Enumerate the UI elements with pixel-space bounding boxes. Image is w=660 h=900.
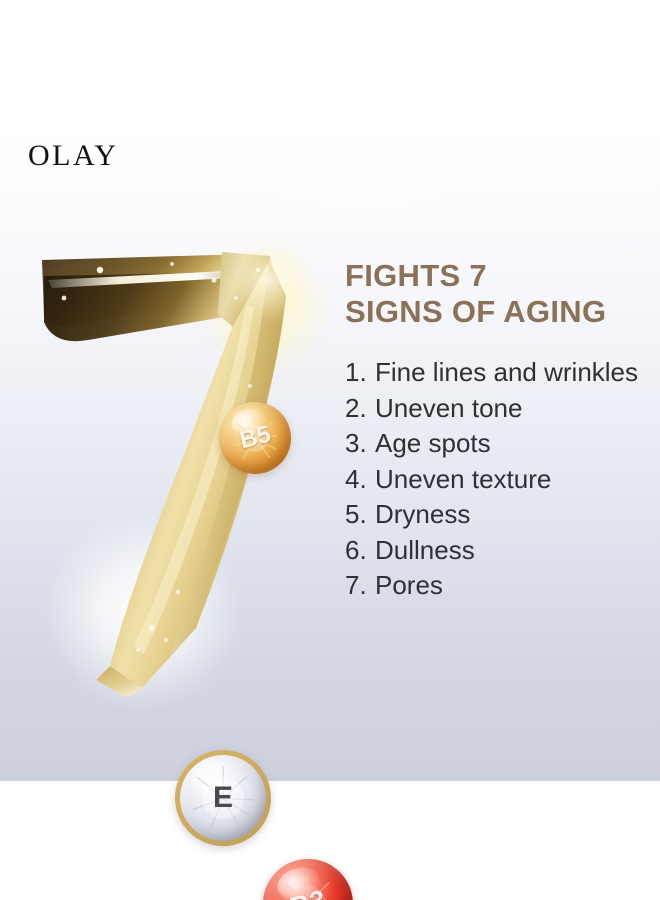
list-item-number: 7. [345,568,375,603]
vitamin-b3-sphere: B3 [263,859,353,900]
list-item: 3.Age spots [345,426,640,461]
list-item-number: 6. [345,533,375,568]
list-item-label: Age spots [375,426,640,461]
page-title: FIGHTS 7 SIGNS OF AGING [345,258,645,330]
e-label: E [213,781,233,815]
list-item: 5.Dryness [345,497,640,532]
list-item-label: Pores [375,568,640,603]
vitamin-e-sphere: E [175,750,271,846]
list-item-number: 3. [345,426,375,461]
list-item: 1.Fine lines and wrinkles [345,355,640,390]
olay-brand-logo: OLAY [28,141,119,171]
list-item-label: Fine lines and wrinkles [375,355,640,390]
list-item: 2.Uneven tone [345,391,640,426]
signs-of-aging-list: 1.Fine lines and wrinkles2.Uneven tone3.… [345,355,640,604]
list-item-number: 1. [345,355,375,390]
list-item-number: 5. [345,497,375,532]
headline-line-2: SIGNS OF AGING [345,294,645,330]
list-item-number: 2. [345,391,375,426]
vitamin-b5-sphere: B5 [219,402,291,474]
list-item-label: Dullness [375,533,640,568]
product-callout-image: OLAY [0,0,660,900]
list-item-label: Uneven texture [375,462,640,497]
list-item-number: 4. [345,462,375,497]
list-item-label: Dryness [375,497,640,532]
list-item: 4.Uneven texture [345,462,640,497]
headline-line-1: FIGHTS 7 [345,258,645,294]
golden-seven-graphic: B5 E B3 [18,236,318,696]
list-item: 7.Pores [345,568,640,603]
list-item-label: Uneven tone [375,391,640,426]
list-item: 6.Dullness [345,533,640,568]
